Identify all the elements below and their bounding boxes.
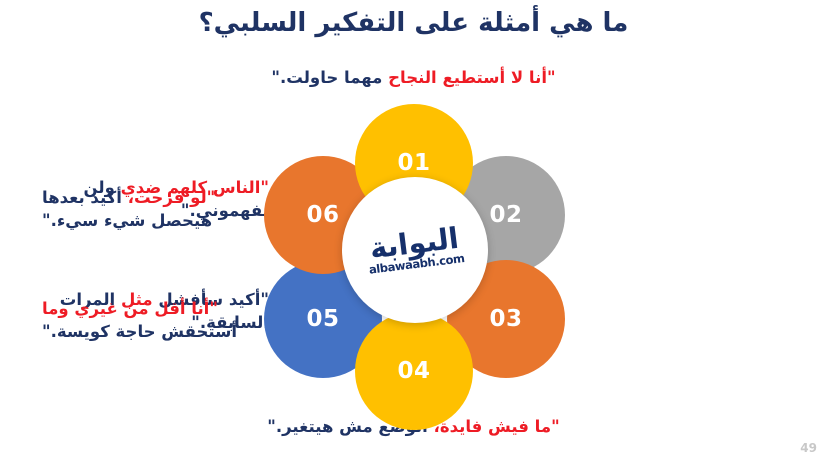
caption-01-highlight: "أنا لا أستطيع النجاح [388, 68, 555, 87]
petal-04-number: 04 [397, 358, 430, 384]
caption-05: "أنا أقل من غيري وما أستحقش حاجة كويسة." [42, 297, 278, 344]
logo-mark: البوابة albawaabh.com [349, 184, 481, 316]
petal-02-number: 02 [489, 202, 522, 228]
petal-01-number: 01 [397, 150, 430, 176]
petal-04[interactable]: 04 [355, 312, 473, 430]
caption-01-rest: مهما حاولت." [271, 68, 388, 87]
caption-06: "لو فرحت، أكيد بعدها هيحصل شيء سيء." [42, 186, 278, 233]
caption-05-rest: أستحقش حاجة كويسة." [42, 322, 237, 341]
flower-diagram: 01 02 03 04 05 06 البوابة albawaabh.com [262, 104, 567, 409]
caption-06-highlight: "لو فرحت، [128, 188, 216, 207]
page-title: ما هي أمثلة على التفكير السلبي؟ [0, 8, 827, 38]
petal-05-number: 05 [306, 306, 339, 332]
caption-05-highlight: "أنا أقل من غيري وما [42, 299, 218, 318]
center-logo-hub: البوابة albawaabh.com [342, 177, 488, 323]
caption-04-highlight: "ما فيش فايدة، [434, 417, 560, 436]
caption-01: "أنا لا أستطيع النجاح مهما حاولت." [0, 66, 827, 89]
petal-06-number: 06 [306, 202, 339, 228]
page-number: 49 [800, 441, 817, 455]
slide-canvas: ما هي أمثلة على التفكير السلبي؟ "أنا لا … [0, 0, 827, 463]
petal-03-number: 03 [489, 306, 522, 332]
